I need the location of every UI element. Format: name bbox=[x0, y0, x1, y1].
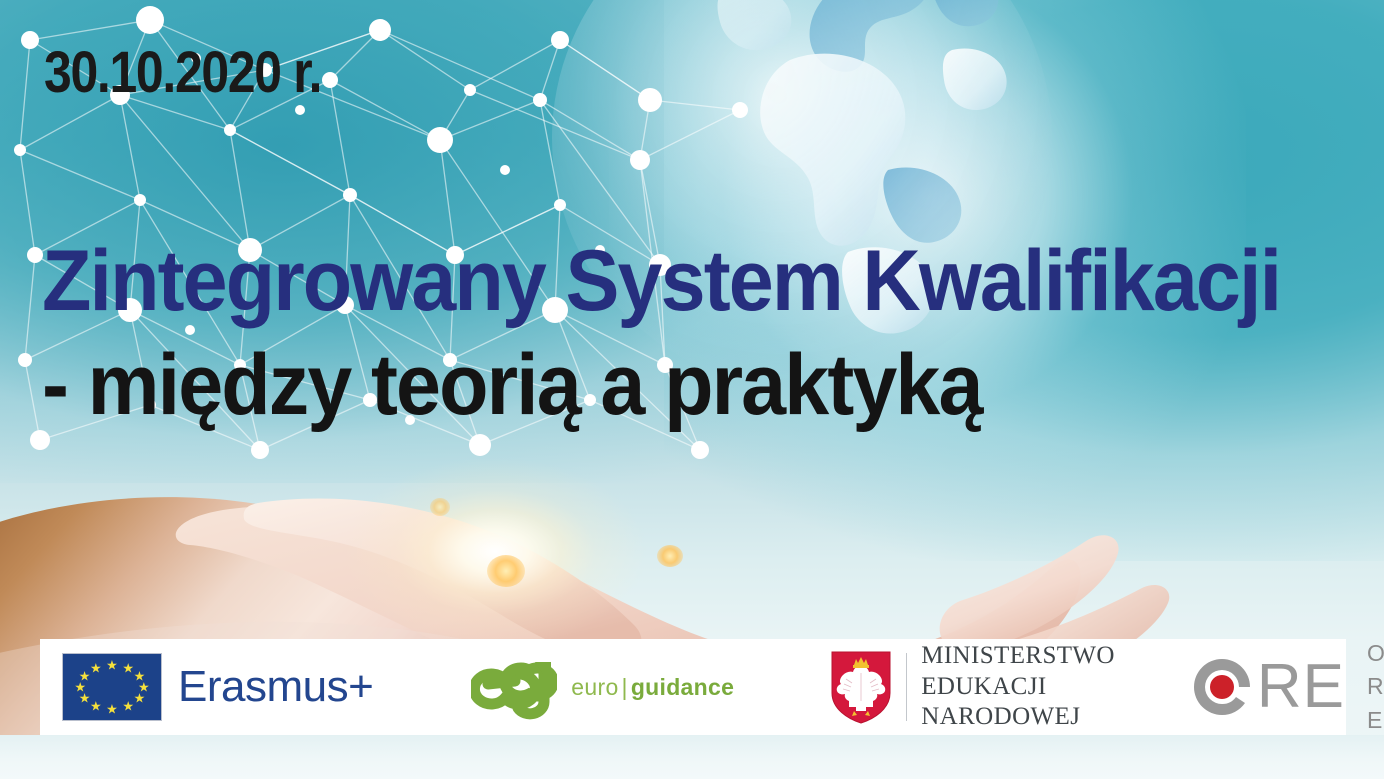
ministry-line-3: NARODOWEJ bbox=[921, 702, 1115, 733]
logo-ore: RE OŚRODEK ROZWOJU EDUKACJI bbox=[1191, 639, 1384, 735]
logo-erasmus-plus: ★ ★ ★ ★ ★ ★ ★ ★ ★ ★ ★ ★ Erasmus+ bbox=[62, 639, 373, 735]
euroguidance-word-guidance: guidance bbox=[631, 674, 734, 700]
headline-secondary: - między teorią a praktyką bbox=[42, 342, 1264, 430]
ore-subtitle-line-2: ROZWOJU bbox=[1367, 670, 1384, 703]
eg-monogram-icon bbox=[471, 654, 557, 720]
logo-euroguidance: euro|guidance bbox=[471, 639, 734, 735]
presentation-slide: 30.10.2020 r. Zintegrowany System Kwalif… bbox=[0, 0, 1384, 779]
ministry-wordmark: MINISTERSTWO EDUKACJI NARODOWEJ bbox=[921, 641, 1115, 733]
euroguidance-separator: | bbox=[622, 674, 628, 700]
polish-coat-of-arms-icon bbox=[830, 649, 892, 725]
ministry-line-1: MINISTERSTWO bbox=[921, 641, 1115, 672]
event-date: 30.10.2020 r. bbox=[44, 44, 321, 102]
ministry-line-2: EDUKACJI bbox=[921, 672, 1115, 703]
bottom-edge-strip bbox=[0, 735, 1384, 779]
erasmus-wordmark: Erasmus+ bbox=[178, 662, 373, 712]
ore-subtitle-line-1: OŚRODEK bbox=[1367, 637, 1384, 670]
euroguidance-wordmark: euro|guidance bbox=[571, 674, 734, 701]
headline-block: Zintegrowany System Kwalifikacji - międz… bbox=[42, 238, 1342, 429]
ministry-divider bbox=[906, 653, 907, 721]
ore-subtitle-line-3: EDUKACJI bbox=[1367, 704, 1384, 737]
eu-flag-icon: ★ ★ ★ ★ ★ ★ ★ ★ ★ ★ ★ ★ bbox=[62, 653, 162, 721]
ore-letters: RE bbox=[1257, 656, 1345, 718]
euroguidance-word-euro: euro bbox=[571, 674, 618, 700]
headline-primary: Zintegrowany System Kwalifikacji bbox=[42, 238, 1264, 326]
ore-subtitle: OŚRODEK ROZWOJU EDUKACJI bbox=[1367, 637, 1384, 737]
sponsor-logo-bar: ★ ★ ★ ★ ★ ★ ★ ★ ★ ★ ★ ★ Erasmus+ bbox=[40, 639, 1346, 735]
ore-circle-icon bbox=[1191, 656, 1253, 718]
logo-ministry-education: MINISTERSTWO EDUKACJI NARODOWEJ bbox=[830, 639, 1115, 735]
